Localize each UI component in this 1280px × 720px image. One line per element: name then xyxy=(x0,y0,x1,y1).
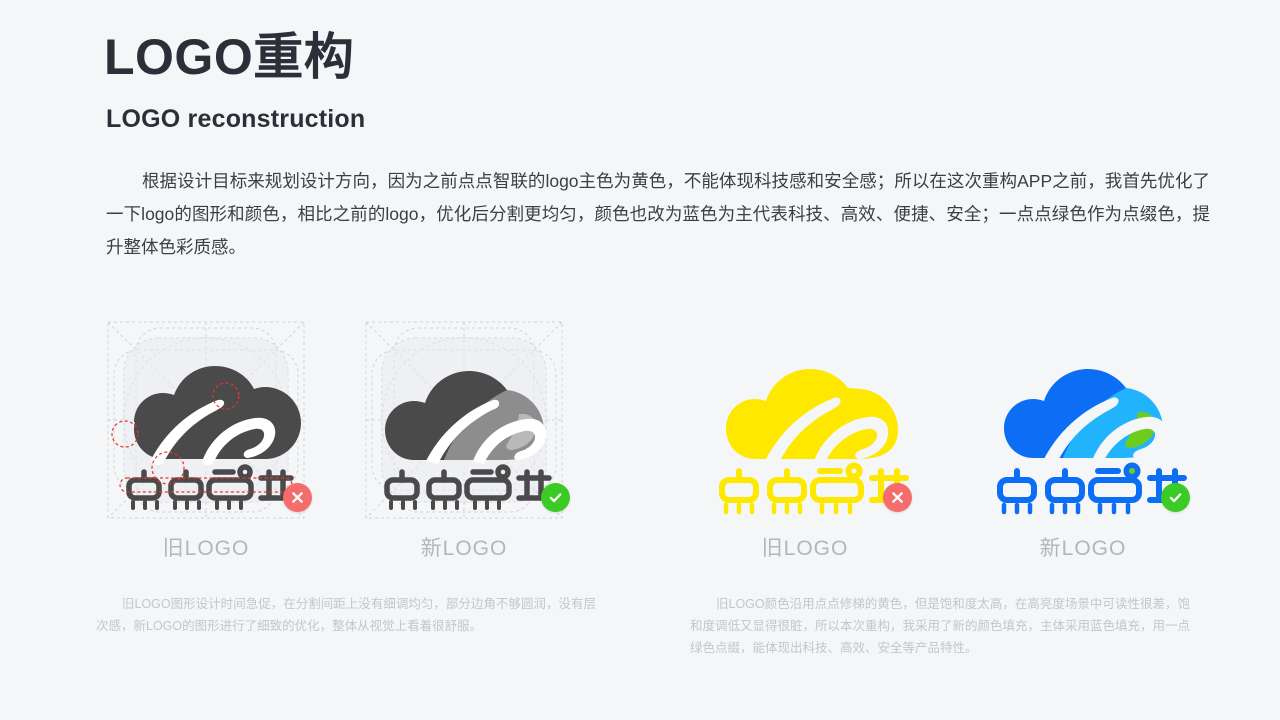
new-logo-graphic-gray xyxy=(369,330,559,510)
cloud-mark xyxy=(385,371,546,464)
wordmark-yellow xyxy=(722,466,906,501)
card-caption: 新LOGO xyxy=(958,532,1208,562)
page-subtitle: LOGO reconstruction xyxy=(106,105,365,134)
status-badge-accept xyxy=(1161,483,1190,512)
slide-canvas: LOGO重构 LOGO reconstruction 根据设计目标来规划设计方向… xyxy=(0,0,1280,720)
color-old-logo-card[interactable]: 旧LOGO xyxy=(680,320,930,570)
card-caption: 旧LOGO xyxy=(96,532,316,562)
old-logo-graphic-yellow xyxy=(696,320,914,520)
cloud-mark xyxy=(1004,369,1166,463)
check-icon xyxy=(548,490,563,505)
new-logo-graphic-blue xyxy=(974,320,1192,520)
check-icon xyxy=(1168,490,1183,505)
wordmark-accent-dot xyxy=(1129,468,1135,474)
card-caption: 旧LOGO xyxy=(680,532,930,562)
shape-old-logo-card[interactable]: 旧LOGO xyxy=(96,320,316,570)
wordmark-blue xyxy=(1000,466,1184,501)
problem-markers-icon xyxy=(106,320,306,520)
wordmark-baseline-ticks xyxy=(391,502,499,508)
wordmark-gray xyxy=(387,467,549,498)
cross-icon xyxy=(890,490,905,505)
wordmark-baseline-ticks xyxy=(1004,505,1128,512)
status-badge-reject xyxy=(283,483,312,512)
color-section-note: 旧LOGO颜色沿用点点修梯的黄色，但是饱和度太高，在高亮度场景中可读性很差，饱和… xyxy=(690,593,1190,659)
page-title: LOGO重构 xyxy=(104,30,354,85)
status-badge-reject xyxy=(883,483,912,512)
card-caption: 新LOGO xyxy=(354,532,574,562)
wordmark-baseline-ticks xyxy=(726,505,850,512)
cross-icon xyxy=(290,490,305,505)
status-badge-accept xyxy=(541,483,570,512)
intro-paragraph: 根据设计目标来规划设计方向，因为之前点点智联的logo主色为黄色，不能体现科技感… xyxy=(106,165,1210,264)
cloud-mark xyxy=(726,369,898,463)
construction-frame-new xyxy=(364,320,564,520)
construction-frame-old xyxy=(106,320,306,520)
shape-section-note: 旧LOGO图形设计时间急促，在分割间距上没有细调均匀，部分边角不够圆润，没有层次… xyxy=(96,593,596,637)
shape-new-logo-card[interactable]: 新LOGO xyxy=(354,320,574,570)
color-new-logo-card[interactable]: 新LOGO xyxy=(958,320,1208,570)
